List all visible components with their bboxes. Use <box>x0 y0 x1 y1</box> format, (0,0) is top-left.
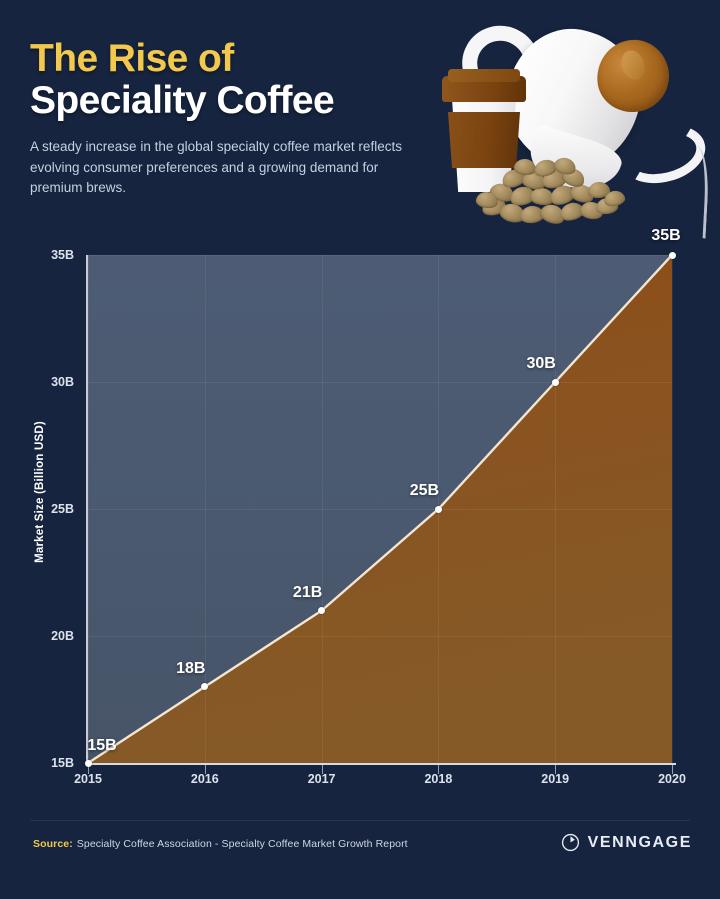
x-axis-line <box>86 763 676 765</box>
gridline-vertical <box>322 255 323 763</box>
data-point[interactable] <box>85 760 92 767</box>
data-point-label: 21B <box>293 584 322 602</box>
venngage-logo[interactable]: VENNGAGE <box>561 833 692 852</box>
coffee-illustration <box>432 8 720 236</box>
source-citation: Source:Specialty Coffee Association - Sp… <box>33 838 408 850</box>
pouring-stream-icon <box>684 145 711 238</box>
x-tick-label: 2017 <box>287 772 357 786</box>
x-tick-label: 2015 <box>53 772 123 786</box>
data-point-label: 15B <box>87 737 116 755</box>
x-tick-mark <box>205 765 206 774</box>
data-point[interactable] <box>435 506 442 513</box>
gridline-horizontal <box>88 382 672 383</box>
gridline-horizontal <box>88 509 672 510</box>
takeaway-cup-lid-top-icon <box>448 69 520 82</box>
data-point-label: 18B <box>176 660 205 678</box>
page-title-line-1: The Rise of <box>30 38 430 80</box>
data-point[interactable] <box>552 379 559 386</box>
data-point-label: 30B <box>527 355 556 373</box>
footer-divider <box>30 820 690 821</box>
footer-block: Source:Specialty Coffee Association - Sp… <box>0 820 720 878</box>
page-title-line-2: Speciality Coffee <box>30 80 430 122</box>
infographic-canvas: The Rise of Speciality Coffee A steady i… <box>0 0 720 899</box>
x-tick-mark <box>555 765 556 774</box>
x-tick-mark <box>438 765 439 774</box>
gridline-horizontal <box>88 255 672 256</box>
y-axis-title: Market Size (Billion USD) <box>34 392 46 592</box>
header-block: The Rise of Speciality Coffee A steady i… <box>30 38 430 199</box>
x-tick-label: 2020 <box>637 772 707 786</box>
y-tick-label: 35B <box>14 248 74 262</box>
y-tick-label: 25B <box>14 502 74 516</box>
data-point-label: 25B <box>410 482 439 500</box>
subtitle-text: A steady increase in the global specialt… <box>30 137 425 199</box>
coffee-beans-icon <box>476 158 622 228</box>
x-tick-mark <box>322 765 323 774</box>
venngage-mark-icon <box>561 833 580 852</box>
data-point[interactable] <box>669 252 676 259</box>
source-text: Specialty Coffee Association - Specialty… <box>77 838 408 850</box>
data-point-label: 35B <box>651 227 680 245</box>
gridline-vertical <box>88 255 89 763</box>
y-tick-label: 15B <box>14 756 74 770</box>
x-tick-label: 2019 <box>520 772 590 786</box>
y-tick-label: 30B <box>14 375 74 389</box>
x-tick-label: 2016 <box>170 772 240 786</box>
gridline-vertical <box>555 255 556 763</box>
source-label: Source: <box>33 838 73 850</box>
y-axis-line <box>86 255 88 765</box>
x-tick-label: 2018 <box>403 772 473 786</box>
gridline-vertical <box>672 255 673 763</box>
x-tick-mark <box>672 765 673 774</box>
area-chart: Market Size (Billion USD) 15B20B25B30B35… <box>0 236 720 806</box>
venngage-wordmark: VENNGAGE <box>588 834 692 852</box>
plot-area <box>88 255 672 763</box>
gridline-horizontal <box>88 636 672 637</box>
y-tick-label: 20B <box>14 629 74 643</box>
